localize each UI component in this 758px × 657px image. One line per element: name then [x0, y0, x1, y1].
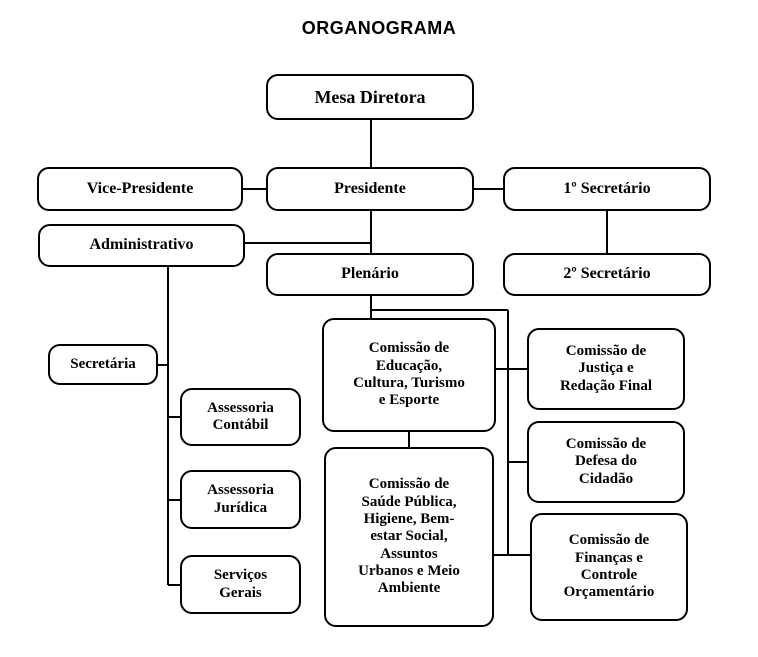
- node-assessoria-juridica[interactable]: Assessoria Jurídica: [180, 470, 301, 529]
- node-comissao-saude-publica[interactable]: Comissão de Saúde Pública, Higiene, Bem-…: [324, 447, 494, 627]
- node-secretaria[interactable]: Secretária: [48, 344, 158, 385]
- node-plenario[interactable]: Plenário: [266, 253, 474, 296]
- node-comissao-educacao[interactable]: Comissão de Educação, Cultura, Turismo e…: [322, 318, 496, 432]
- node-comissao-financas[interactable]: Comissão de Finanças e Controle Orçament…: [530, 513, 688, 621]
- node-comissao-defesa-cidadao[interactable]: Comissão de Defesa do Cidadão: [527, 421, 685, 503]
- node-segundo-secretario[interactable]: 2º Secretário: [503, 253, 711, 296]
- node-presidente[interactable]: Presidente: [266, 167, 474, 211]
- node-mesa-diretora[interactable]: Mesa Diretora: [266, 74, 474, 120]
- organogram-canvas: ORGANOGRAMA: [0, 0, 758, 657]
- node-comissao-justica[interactable]: Comissão de Justiça e Redação Final: [527, 328, 685, 410]
- node-vice-presidente[interactable]: Vice-Presidente: [37, 167, 243, 211]
- node-servicos-gerais[interactable]: Serviços Gerais: [180, 555, 301, 614]
- node-administrativo[interactable]: Administrativo: [38, 224, 245, 267]
- node-assessoria-contabil[interactable]: Assessoria Contábil: [180, 388, 301, 446]
- node-primeiro-secretario[interactable]: 1º Secretário: [503, 167, 711, 211]
